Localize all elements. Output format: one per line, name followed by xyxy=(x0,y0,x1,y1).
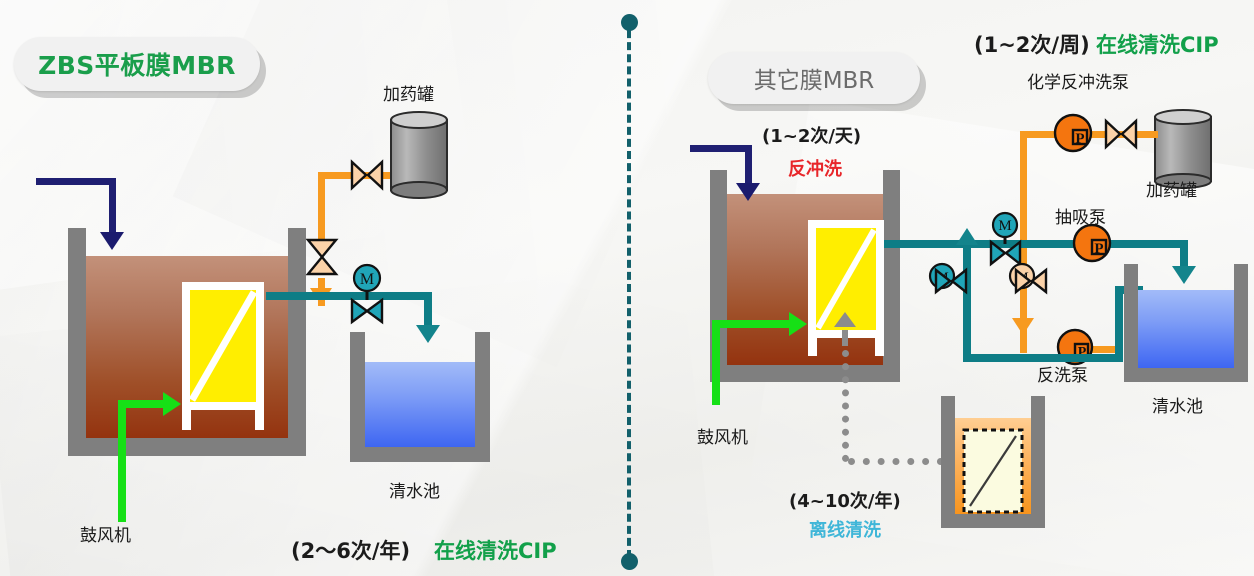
left-blower-pipe-horizontal xyxy=(118,400,168,408)
right-backwash-frequency: (1~2次/天) xyxy=(762,122,861,148)
cip-motor-valve[interactable]: M xyxy=(1008,262,1052,306)
left-clean-water xyxy=(365,362,475,447)
right-influent-arrow xyxy=(736,183,760,201)
divider-dot-bottom xyxy=(621,553,638,570)
left-influent-pipe-horizontal xyxy=(36,178,116,185)
svg-text:M: M xyxy=(998,218,1011,234)
divider-dot-top xyxy=(621,14,638,31)
offline-frequency: (4~10次/年) xyxy=(789,487,901,513)
panel-divider xyxy=(627,18,631,558)
right-clean-water-tank xyxy=(1124,264,1248,382)
right-influent-pipe-horizontal xyxy=(690,145,752,152)
backwash-riser-arrow xyxy=(956,228,978,245)
left-dosing-tank-label: 加药罐 xyxy=(383,80,434,105)
svg-text:P: P xyxy=(1094,241,1103,257)
left-dosing-pipe-down-upper xyxy=(318,172,325,240)
right-backwash-operation: 反冲洗 xyxy=(788,155,842,181)
cip-down-arrow xyxy=(1012,318,1034,335)
right-blower-arrow xyxy=(789,312,807,336)
left-membrane-module xyxy=(178,280,268,430)
offline-membrane-module xyxy=(962,428,1024,514)
backwash-branch-vertical xyxy=(1115,286,1123,362)
svg-text:P: P xyxy=(1075,131,1084,147)
right-cip-frequency: (1~2次/周) xyxy=(974,29,1090,59)
left-influent-arrow xyxy=(100,232,124,250)
right-panel-title-badge: 其它膜MBR xyxy=(708,52,920,104)
left-footer-operation: 在线清洗CIP xyxy=(434,535,557,565)
left-dosing-tank xyxy=(388,110,450,198)
right-panel-title: 其它膜MBR xyxy=(754,61,875,95)
left-clean-water-tank xyxy=(350,332,490,462)
left-dosing-valve-horizontal[interactable] xyxy=(350,158,384,192)
suction-pump-label: 抽吸泵 xyxy=(1055,203,1106,228)
cip-valve[interactable] xyxy=(1104,117,1138,151)
right-clean-water-tank-label: 清水池 xyxy=(1152,392,1203,417)
offline-operation: 离线清洗 xyxy=(809,516,881,542)
left-blower-label: 鼓风机 xyxy=(80,521,131,546)
right-cip-operation: 在线清洗CIP xyxy=(1096,29,1219,59)
right-permeate-elbow xyxy=(1134,240,1188,248)
left-dosing-valve-vertical[interactable] xyxy=(305,238,339,276)
left-blower-pipe-vertical xyxy=(118,400,126,522)
left-panel-title: ZBS平板膜MBR xyxy=(38,46,236,82)
left-influent-pipe-vertical xyxy=(109,178,116,238)
svg-text:M: M xyxy=(360,271,374,288)
backwash-pump-label: 反洗泵 xyxy=(1037,361,1088,386)
suction-pump[interactable]: P xyxy=(1072,222,1118,268)
left-permeate-motor-valve[interactable]: M xyxy=(349,264,385,326)
backwash-return-horizontal xyxy=(963,354,1123,362)
left-dosing-pipe-elbow xyxy=(318,172,343,179)
offline-route-horizontal xyxy=(848,458,944,465)
right-clean-water xyxy=(1138,290,1234,368)
right-dosing-tank-label: 加药罐 xyxy=(1146,176,1197,201)
right-blower-pipe-horizontal xyxy=(712,320,794,328)
left-blower-arrow xyxy=(163,392,181,416)
diagram-canvas: ZBS平板膜MBR xyxy=(0,0,1254,576)
left-footer-frequency: (2～6次/年) xyxy=(291,535,410,565)
right-blower-pipe-vertical xyxy=(712,320,720,405)
chemical-backwash-pump[interactable]: P xyxy=(1052,112,1098,158)
chemical-backwash-pump-label: 化学反冲洗泵 xyxy=(1027,68,1129,93)
offline-route-stub xyxy=(842,330,848,346)
offline-route-up-arrow xyxy=(834,312,856,327)
left-panel-title-badge: ZBS平板膜MBR xyxy=(14,37,260,91)
right-blower-label: 鼓风机 xyxy=(697,423,748,448)
permeate-motor-valve-left[interactable]: M xyxy=(928,262,972,306)
offline-route-vertical xyxy=(842,350,849,462)
left-clean-water-tank-label: 清水池 xyxy=(389,477,440,502)
